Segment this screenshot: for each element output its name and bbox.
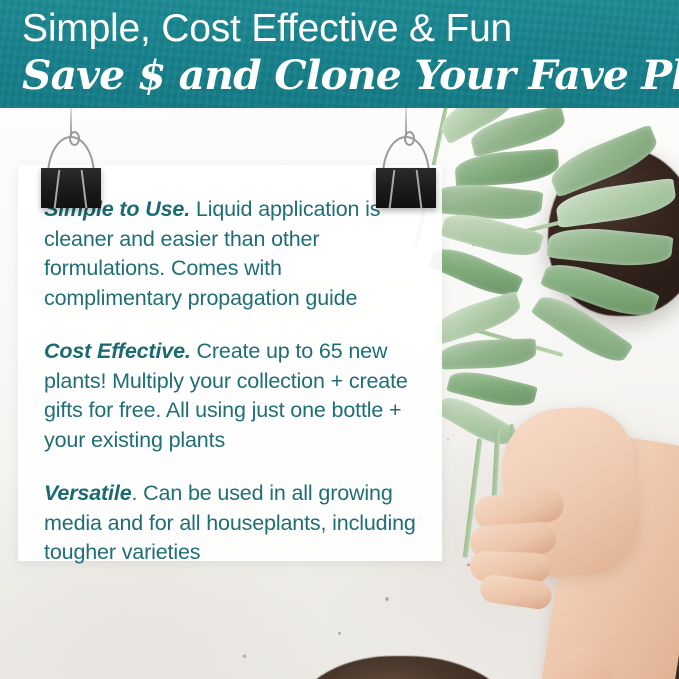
headline-script: Save $ and Clone Your Fave Plants!	[22, 52, 679, 100]
clip-body	[41, 168, 101, 208]
header-banner: Simple, Cost Effective & Fun Save $ and …	[0, 0, 679, 108]
benefit-lead: Versatile	[44, 481, 132, 505]
headline-primary: Simple, Cost Effective & Fun	[22, 7, 512, 51]
benefit-item: Cost Effective. Create up to 65 new plan…	[44, 337, 416, 455]
benefits-list: Simple to Use. Liquid application is cle…	[18, 165, 442, 568]
benefit-lead: Cost Effective.	[44, 339, 191, 363]
infographic-canvas: Simple, Cost Effective & Fun Save $ and …	[0, 0, 679, 679]
benefit-item: Simple to Use. Liquid application is cle…	[44, 195, 416, 313]
binder-clip-icon	[39, 130, 103, 208]
benefit-item: Versatile. Can be used in all growing me…	[44, 479, 416, 568]
binder-clip-icon	[374, 130, 438, 208]
clip-body	[376, 168, 436, 208]
benefits-card: Simple to Use. Liquid application is cle…	[18, 165, 442, 561]
